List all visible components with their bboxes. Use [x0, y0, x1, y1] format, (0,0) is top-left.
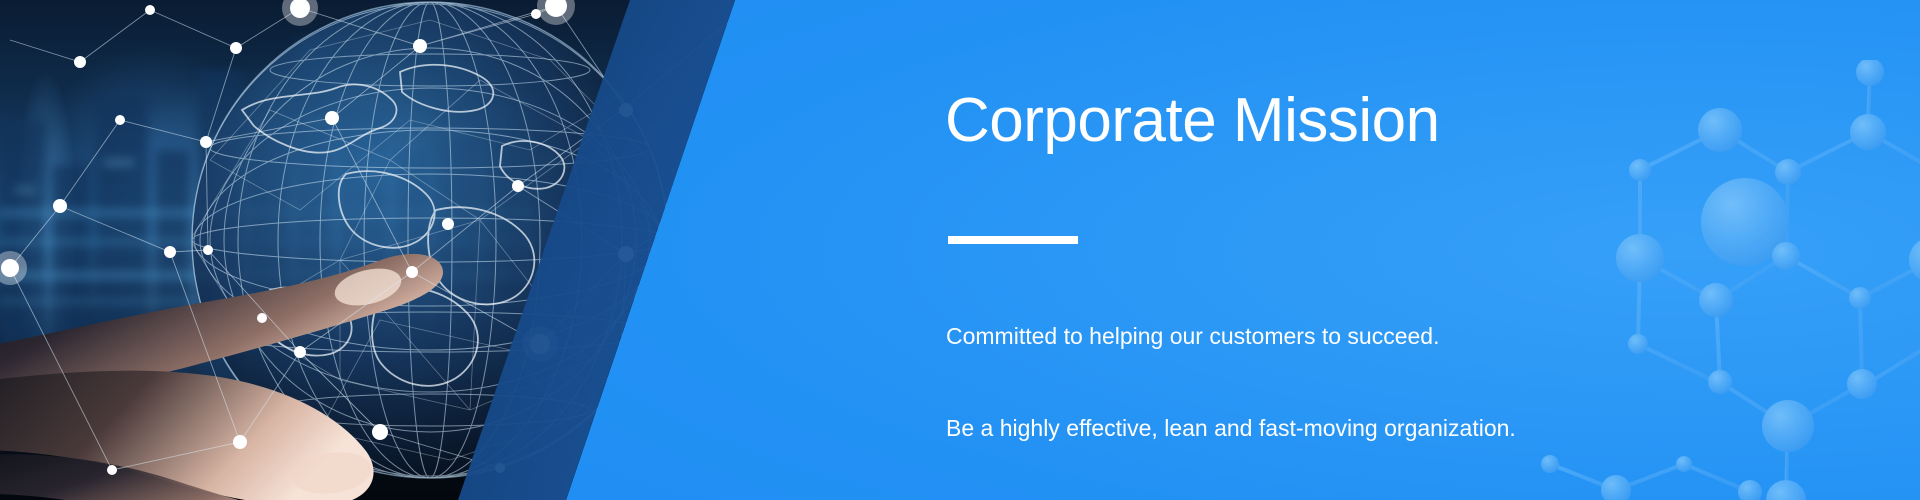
- mission-line-1: Committed to helping our customers to su…: [946, 321, 1537, 352]
- mission-content: Corporate Mission Committed to helping o…: [945, 0, 1665, 500]
- title-divider-rule: [948, 236, 1078, 244]
- mission-statement: Committed to helping our customers to su…: [946, 260, 1537, 500]
- mission-line-2: Be a highly effective, lean and fast-mov…: [946, 413, 1537, 444]
- corporate-mission-banner: Corporate Mission Committed to helping o…: [0, 0, 1920, 500]
- page-title: Corporate Mission: [945, 88, 1440, 153]
